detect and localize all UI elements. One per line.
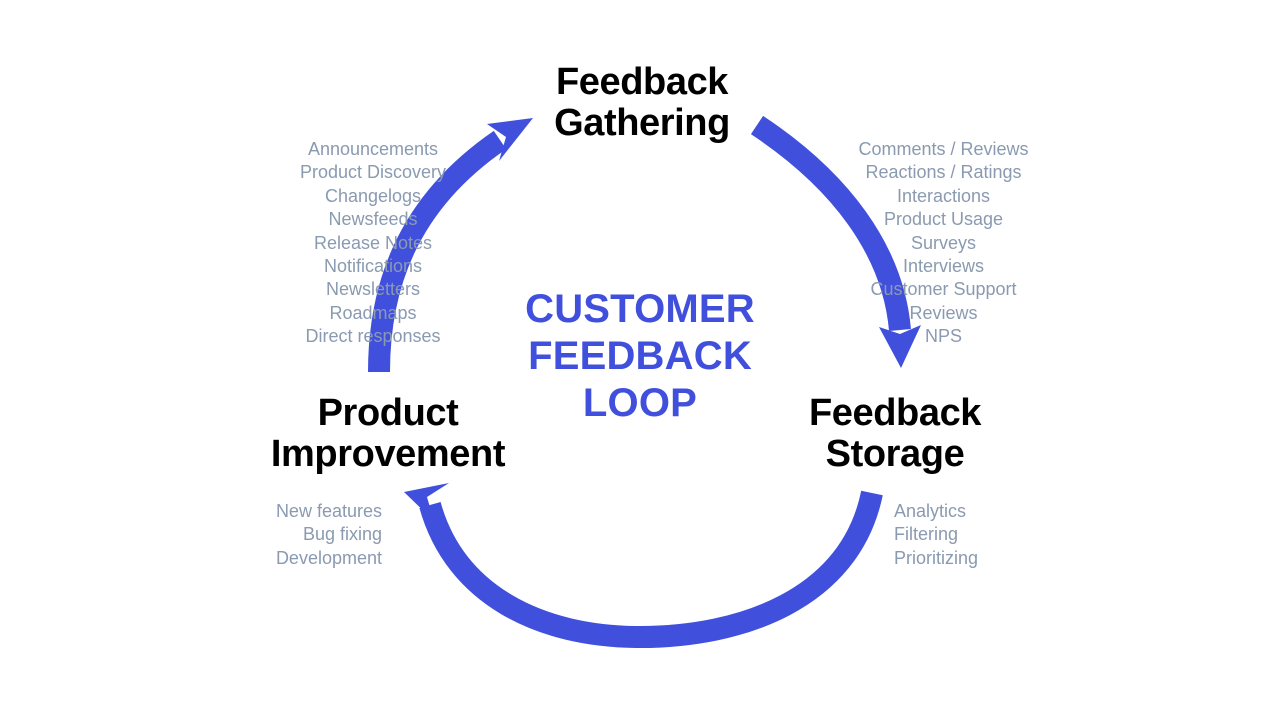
list-item: Filtering — [894, 523, 1154, 546]
list-item: NPS — [756, 325, 1131, 348]
list-item: Notifications — [193, 255, 553, 278]
list-item: Changelogs — [193, 185, 553, 208]
list-item: Product Usage — [756, 208, 1131, 231]
list-item: Announcements — [193, 138, 553, 161]
arrow-storage-to-improvement — [404, 483, 872, 637]
list-feedback-storage-activities: Analytics Filtering Prioritizing — [894, 500, 1154, 570]
list-item: Reviews — [756, 302, 1131, 325]
list-item: Interactions — [756, 185, 1131, 208]
list-feedback-gathering-inputs: Announcements Product Discovery Changelo… — [193, 138, 553, 349]
list-feedback-gathering-outputs: Comments / Reviews Reactions / Ratings I… — [756, 138, 1131, 349]
list-item: Newsfeeds — [193, 208, 553, 231]
list-item: Newsletters — [193, 278, 553, 301]
list-item: Comments / Reviews — [756, 138, 1131, 161]
list-item: Reactions / Ratings — [756, 161, 1131, 184]
list-item: Product Discovery — [193, 161, 553, 184]
list-product-improvement-activities: New features Bug fixing Development — [120, 500, 382, 570]
list-item: Roadmaps — [193, 302, 553, 325]
list-item: Analytics — [894, 500, 1154, 523]
list-item: Bug fixing — [120, 523, 382, 546]
list-item: Direct responses — [193, 325, 553, 348]
list-item: New features — [120, 500, 382, 523]
list-item: Development — [120, 547, 382, 570]
node-title-feedback-storage: Feedback Storage — [715, 393, 1075, 475]
list-item: Release Notes — [193, 232, 553, 255]
customer-feedback-loop-diagram: CUSTOMER FEEDBACK LOOP Feedback Gatherin… — [0, 0, 1280, 720]
list-item: Customer Support — [756, 278, 1131, 301]
node-title-product-improvement: Product Improvement — [208, 393, 568, 475]
node-title-feedback-gathering: Feedback Gathering — [462, 62, 822, 144]
list-item: Interviews — [756, 255, 1131, 278]
list-item: Prioritizing — [894, 547, 1154, 570]
list-item: Surveys — [756, 232, 1131, 255]
